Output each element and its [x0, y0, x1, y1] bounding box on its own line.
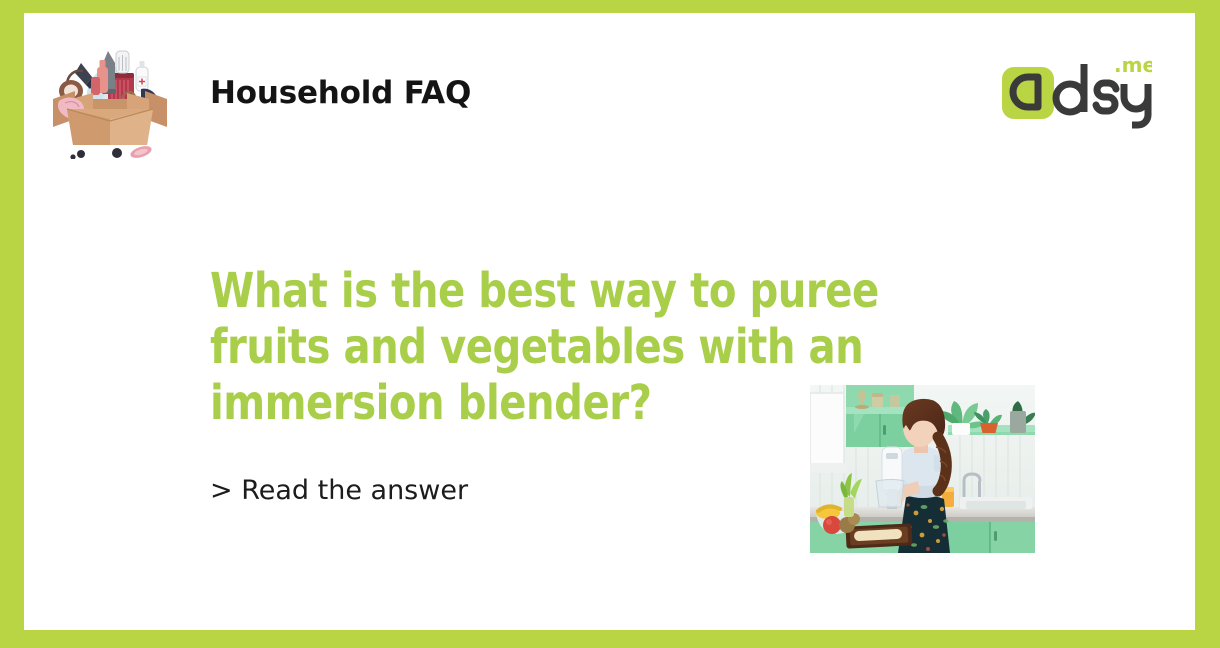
header: Household FAQ .me	[24, 13, 1195, 168]
faq-promo-card: Household FAQ .me	[0, 0, 1220, 648]
cardboard-box-icon	[45, 33, 175, 159]
svg-text:.me: .me	[1114, 53, 1152, 77]
card-content-area: Household FAQ .me	[24, 13, 1195, 630]
read-answer-link[interactable]: > Read the answer	[210, 475, 468, 506]
article-thumbnail[interactable]	[810, 385, 1035, 553]
page-title: Household FAQ	[210, 75, 471, 111]
adsy-logo[interactable]: .me	[1000, 50, 1152, 135]
